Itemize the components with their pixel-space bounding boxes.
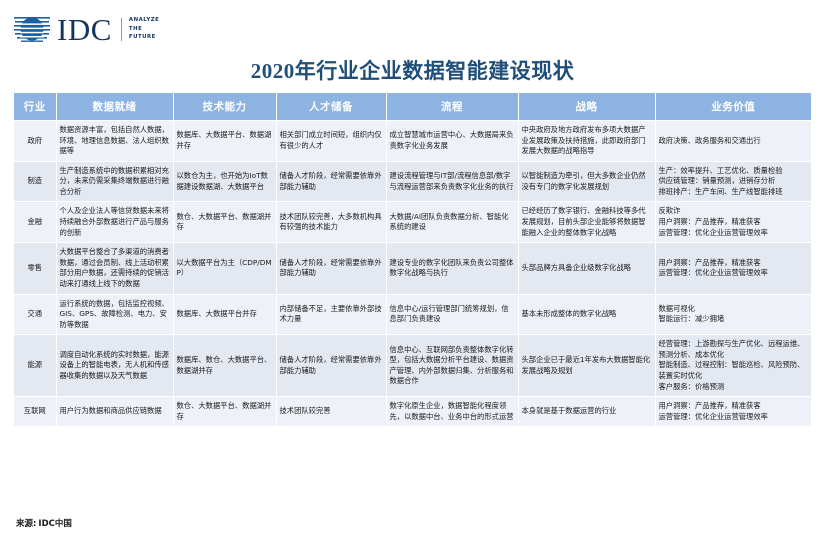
slide-page: IDC ANALYZE THE FUTURE 2020年行业企业数据智能建设现状… [0,0,825,547]
cell-strategy: 本身就是基于数据运营的行业 [518,397,655,427]
cell-value: 反欺诈用户洞察：产品推荐，精准获客运营管理：优化企业运营管理效率 [655,202,811,243]
source-note: 来源:IDC中国 [16,517,72,529]
cell-value: 用户洞察：产品推荐，精准获客运营管理：优化企业运营管理效率 [655,397,811,427]
tagline-line-2: THE [129,25,159,33]
cell-talent: 相关部门成立时间短，组织内仅有很少的人才 [276,121,386,162]
cell-value: 数据可视化智能运行：减少拥堵 [655,294,811,335]
cell-strategy: 已经经历了数字银行、金融科技等多代发展规划，目前头部企业能够将数据智能融入企业的… [518,202,655,243]
cell-industry: 能源 [14,335,56,397]
cell-data-readiness: 用户行为数据和商品供应链数据 [56,397,173,427]
cell-data-readiness: 生产制造系统中的数据积累相对充分，未来仍需采集终端数据进行融合分析 [56,161,173,202]
table-row: 政府 数据资源丰富，包括自然人数据，环境、地理信息数据、法人组织数据等 数据库、… [14,121,811,162]
table-row: 零售 大数据平台整合了多渠道的消费者数据，通过会员制、线上活动积累部分用户数据，… [14,243,811,294]
cell-data-readiness: 数据资源丰富，包括自然人数据，环境、地理信息数据、法人组织数据等 [56,121,173,162]
table-row: 能源 调度自动化系统的实时数据，能源设备上的智能电表，无人机和传感器收集的数据以… [14,335,811,397]
cell-talent: 技术团队较完善，大多数机构具有较强的技术能力 [276,202,386,243]
column-header-strategy: 战略 [518,93,655,121]
cell-data-readiness: 大数据平台整合了多渠道的消费者数据，通过会员制、线上活动积累部分用户数据，还需持… [56,243,173,294]
cell-process: 大数据/AI团队负责数据分析、智能化系统的建设 [386,202,518,243]
column-header-industry: 行业 [14,93,56,121]
idc-logo: IDC ANALYZE THE FUTURE [14,12,159,46]
cell-value: 生产：效率提升、工艺优化、质量检验供应链管理：销量预测，进销存分析排班排产：生产… [655,161,811,202]
cell-talent: 储备人才阶段，经常需要依靠外部能力辅助 [276,161,386,202]
cell-value: 经营管理：上游勘探与生产优化、远程运维、预测分析、成本优化智能制造、过程控制：智… [655,335,811,397]
cell-process: 数字化原生企业，数据智能化程度领先，以数据中台、业务中台的形式运营 [386,397,518,427]
logo-divider [121,18,122,41]
tagline-line-3: FUTURE [129,33,159,41]
cell-talent: 技术团队较完善 [276,397,386,427]
cell-process: 建设流程管理与IT部/流程信息部/数字与流程运营部来负责数字化业务的执行 [386,161,518,202]
cell-talent: 储备人才阶段，经常需要依靠外部能力辅助 [276,335,386,397]
cell-industry: 零售 [14,243,56,294]
cell-tech-capability: 数据库、大数据平台并存 [173,294,276,335]
cell-data-readiness: 调度自动化系统的实时数据，能源设备上的智能电表，无人机和传感器收集的数据以及天气… [56,335,173,397]
cell-strategy: 基本未形成整体的数字化战略 [518,294,655,335]
cell-industry: 交通 [14,294,56,335]
column-header-tech-capability: 技术能力 [173,93,276,121]
cell-tech-capability: 数仓、大数据平台、数据湖并存 [173,202,276,243]
industry-status-table: 行业 数据就绪 技术能力 人才储备 流程 战略 业务价值 政府 数据资源丰富，包… [14,93,811,427]
cell-industry: 政府 [14,121,56,162]
table-row: 互联网 用户行为数据和商品供应链数据 数仓、大数据平台、数据湖并存 技术团队较完… [14,397,811,427]
cell-industry: 制造 [14,161,56,202]
cell-strategy: 头部品牌方具备企业级数字化战略 [518,243,655,294]
cell-tech-capability: 以数仓为主，也开始为IoT数据建设数据湖、大数据平台 [173,161,276,202]
cell-tech-capability: 数仓、大数据平台、数据湖并存 [173,397,276,427]
cell-strategy: 以智能制造为牵引，但大多数企业仍然没有专门的数字化发展规划 [518,161,655,202]
table-body: 政府 数据资源丰富，包括自然人数据，环境、地理信息数据、法人组织数据等 数据库、… [14,121,811,427]
idc-tagline: ANALYZE THE FUTURE [129,16,159,41]
cell-talent: 储备人才阶段，经常需要依靠外部能力辅助 [276,243,386,294]
column-header-talent: 人才储备 [276,93,386,121]
table-row: 金融 个人及企业法人等信贷数据未来将持续融合外部数据进行产品与服务的创新 数仓、… [14,202,811,243]
column-header-data-readiness: 数据就绪 [56,93,173,121]
source-value: IDC中国 [38,519,71,529]
column-header-value: 业务价值 [655,93,811,121]
cell-process: 建设专业的数字化团队来负责公司整体数字化战略与执行 [386,243,518,294]
cell-tech-capability: 数据库、大数据平台、数据湖并存 [173,121,276,162]
cell-process: 信息中心、互联网部负责整体数字化转型，包括大数据分析平台建设、数据资产管理、内外… [386,335,518,397]
cell-value: 政府决策、政务服务和交通出行 [655,121,811,162]
source-label: 来源: [16,519,36,529]
table-header: 行业 数据就绪 技术能力 人才储备 流程 战略 业务价值 [14,93,811,121]
cell-process: 信息中心/运行管理部门统筹规划，信息部门负责建设 [386,294,518,335]
cell-talent: 内部储备不足，主要依靠外部技术力量 [276,294,386,335]
cell-strategy: 中央政府及地方政府发布多项大数据产业发展政策及扶持措施，此即政府部门发展大数据的… [518,121,655,162]
cell-data-readiness: 运行系统的数据，包括监控视频、GIS、GPS、故障检测、电力、安防等数据 [56,294,173,335]
cell-industry: 互联网 [14,397,56,427]
idc-wordmark: IDC [57,14,112,45]
cell-process: 成立智慧城市运营中心、大数据局来负责数字化业务发展 [386,121,518,162]
table-header-row: 行业 数据就绪 技术能力 人才储备 流程 战略 业务价值 [14,93,811,121]
page-title: 2020年行业企业数据智能建设现状 [0,55,825,85]
cell-data-readiness: 个人及企业法人等信贷数据未来将持续融合外部数据进行产品与服务的创新 [56,202,173,243]
tagline-line-1: ANALYZE [129,16,159,24]
cell-strategy: 头部企业已于最近1年发布大数据智能化发展战略及规划 [518,335,655,397]
cell-tech-capability: 数据库、数仓、大数据平台、数据湖并存 [173,335,276,397]
cell-tech-capability: 以大数据平台为主（CDP/DMP） [173,243,276,294]
cell-industry: 金融 [14,202,56,243]
column-header-process: 流程 [386,93,518,121]
table-row: 制造 生产制造系统中的数据积累相对充分，未来仍需采集终端数据进行融合分析 以数仓… [14,161,811,202]
cell-value: 用户洞察：产品推荐，精准获客运营管理：优化企业运营管理效率 [655,243,811,294]
table-row: 交通 运行系统的数据，包括监控视频、GIS、GPS、故障检测、电力、安防等数据 … [14,294,811,335]
industry-status-table-wrapper: 行业 数据就绪 技术能力 人才储备 流程 战略 业务价值 政府 数据资源丰富，包… [14,93,811,427]
idc-globe-icon [14,13,50,45]
